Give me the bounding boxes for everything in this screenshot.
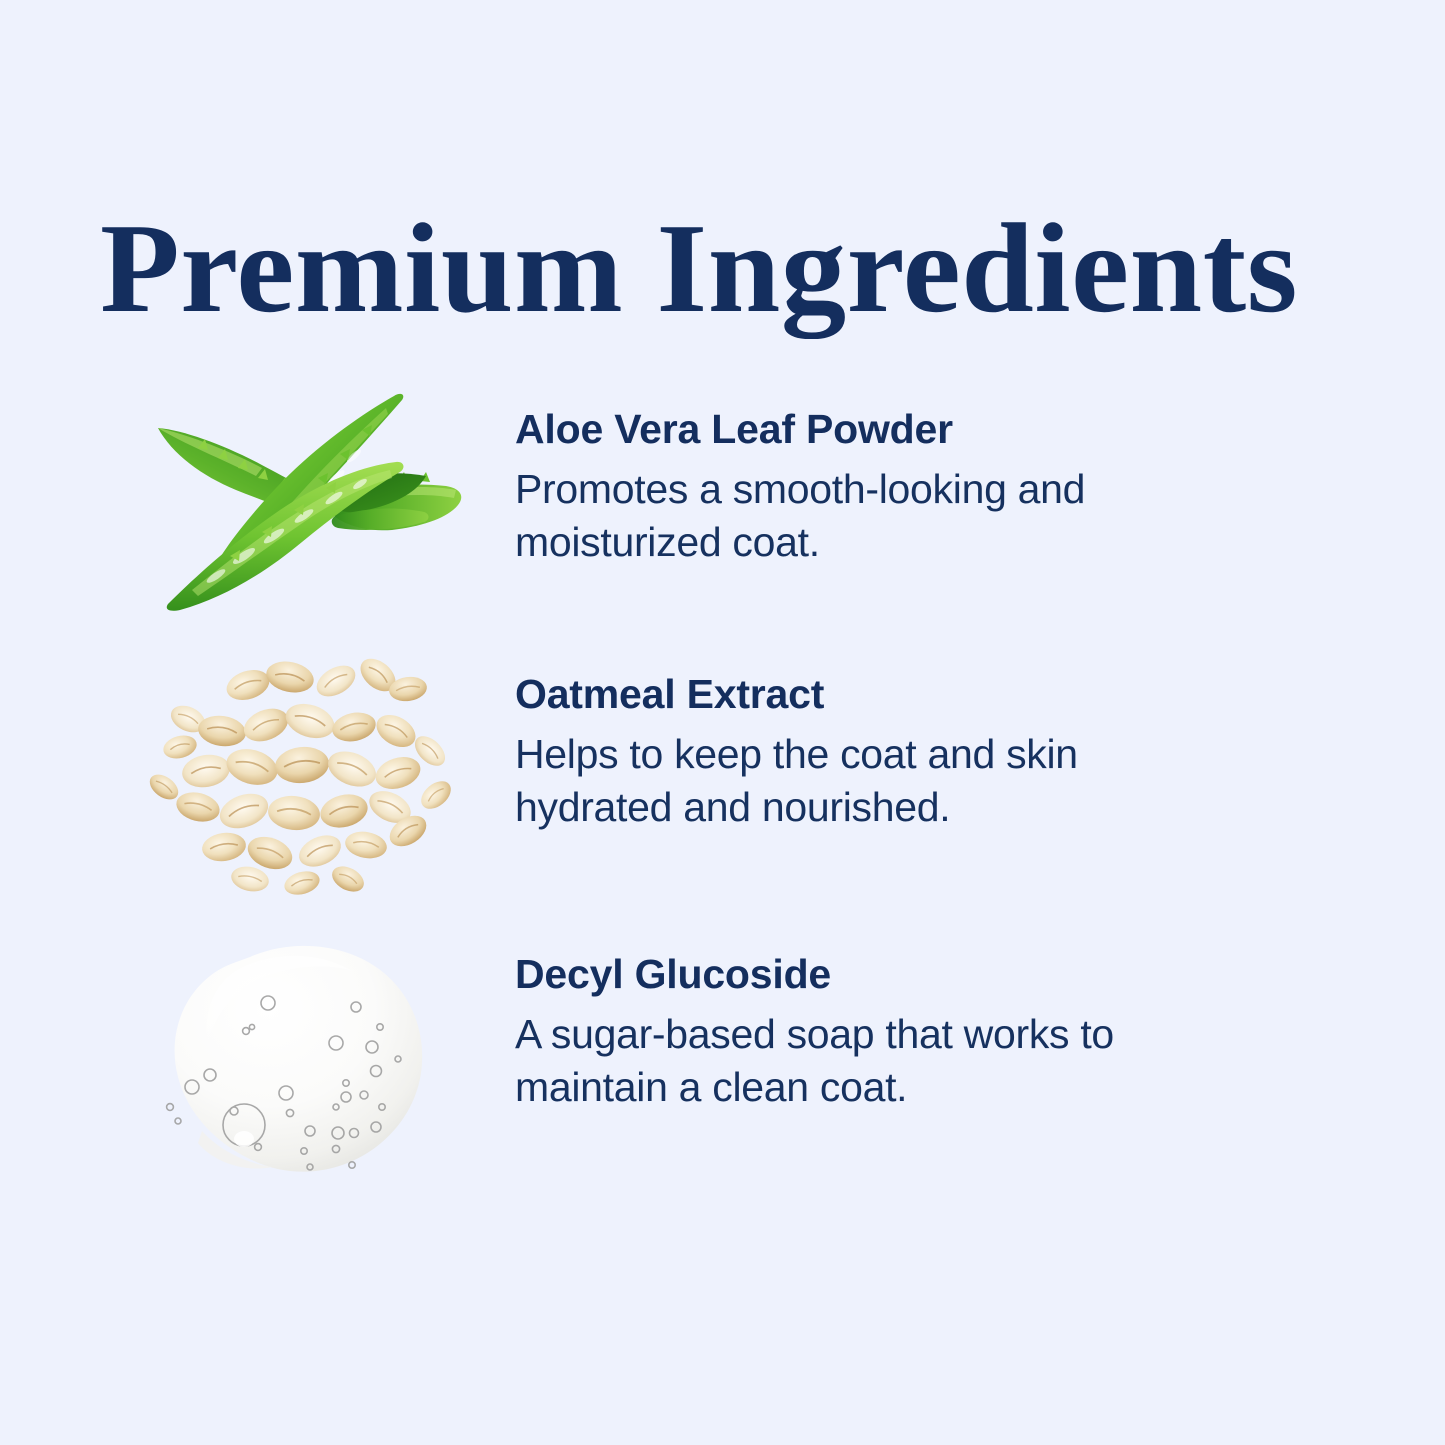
aloe-vera-leaves-image (140, 390, 470, 620)
ingredient-text: Decyl Glucoside A sugar-based soap that … (470, 935, 1320, 1113)
ingredient-description: A sugar-based soap that works to maintai… (515, 1008, 1215, 1113)
list-item: Decyl Glucoside A sugar-based soap that … (140, 935, 1320, 1165)
ingredient-description: Promotes a smooth-looking and moisturize… (515, 463, 1215, 568)
ingredient-text: Aloe Vera Leaf Powder Promotes a smooth-… (470, 390, 1320, 568)
list-item: Aloe Vera Leaf Powder Promotes a smooth-… (140, 390, 1320, 620)
premium-ingredients-page: Premium Ingredients (0, 0, 1445, 1445)
page-title: Premium Ingredients (100, 204, 1375, 332)
ingredient-description: Helps to keep the coat and skin hydrated… (515, 728, 1215, 833)
oatmeal-flakes-image (140, 655, 470, 885)
list-item: Oatmeal Extract Helps to keep the coat a… (140, 655, 1320, 885)
ingredient-name: Decyl Glucoside (515, 953, 1320, 996)
ingredient-name: Oatmeal Extract (515, 673, 1320, 716)
gel-droplet-image (140, 935, 470, 1165)
ingredient-text: Oatmeal Extract Helps to keep the coat a… (470, 655, 1320, 833)
ingredient-name: Aloe Vera Leaf Powder (515, 408, 1320, 451)
